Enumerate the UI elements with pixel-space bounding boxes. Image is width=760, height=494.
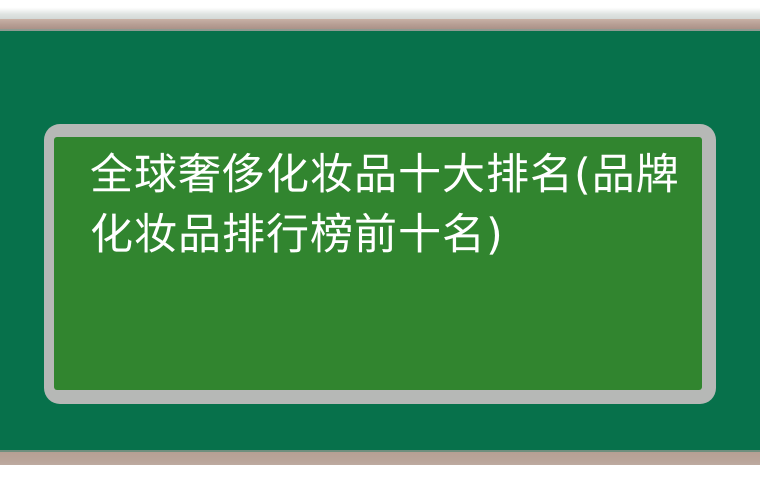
green-stage-background: 全球奢侈化妆品十大排名(品牌化妆品排行榜前十名): [0, 31, 760, 452]
top-tan-band: [0, 19, 760, 29]
top-gray-band: [0, 0, 760, 19]
chalkboard-surface: 全球奢侈化妆品十大排名(品牌化妆品排行榜前十名): [54, 137, 702, 390]
bottom-tan-band: [0, 452, 760, 465]
page-title: 全球奢侈化妆品十大排名(品牌化妆品排行榜前十名): [90, 145, 690, 265]
bottom-white-band: [0, 465, 760, 494]
chalkboard-frame: 全球奢侈化妆品十大排名(品牌化妆品排行榜前十名): [44, 124, 716, 404]
screenshot-canvas: 全球奢侈化妆品十大排名(品牌化妆品排行榜前十名): [0, 0, 760, 494]
